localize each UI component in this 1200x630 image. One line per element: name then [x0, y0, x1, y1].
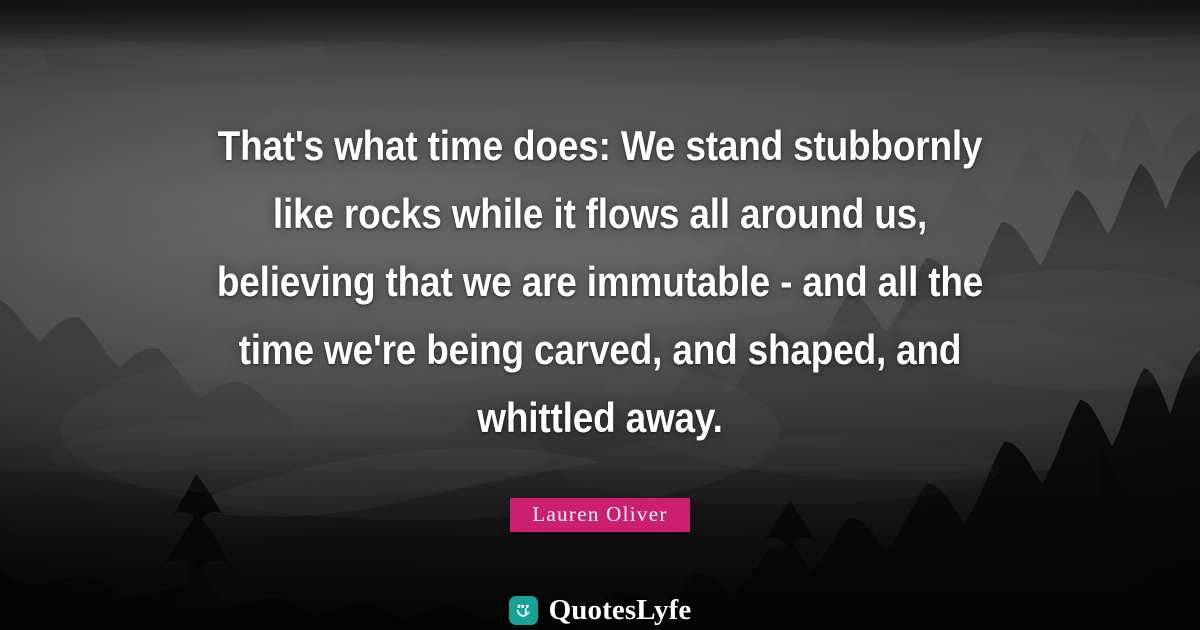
author-badge: Lauren Oliver — [510, 498, 689, 532]
brand-logo[interactable]: QuotesLyfe — [509, 594, 692, 627]
brand-name: QuotesLyfe — [549, 594, 692, 627]
quote-line: like rocks while it flows all around us, — [134, 180, 1067, 248]
quote-line: whittled away. — [134, 384, 1067, 452]
quote-line: That's what time does: We stand stubborn… — [134, 112, 1067, 180]
quote-card: That's what time does: We stand stubborn… — [0, 0, 1200, 630]
quote-smiley-icon — [509, 596, 538, 625]
quote-line: believing that we are immutable - and al… — [134, 248, 1067, 316]
quote-line: time we're being carved, and shaped, and — [134, 316, 1067, 384]
quote-text: That's what time does: We stand stubborn… — [70, 112, 1130, 452]
